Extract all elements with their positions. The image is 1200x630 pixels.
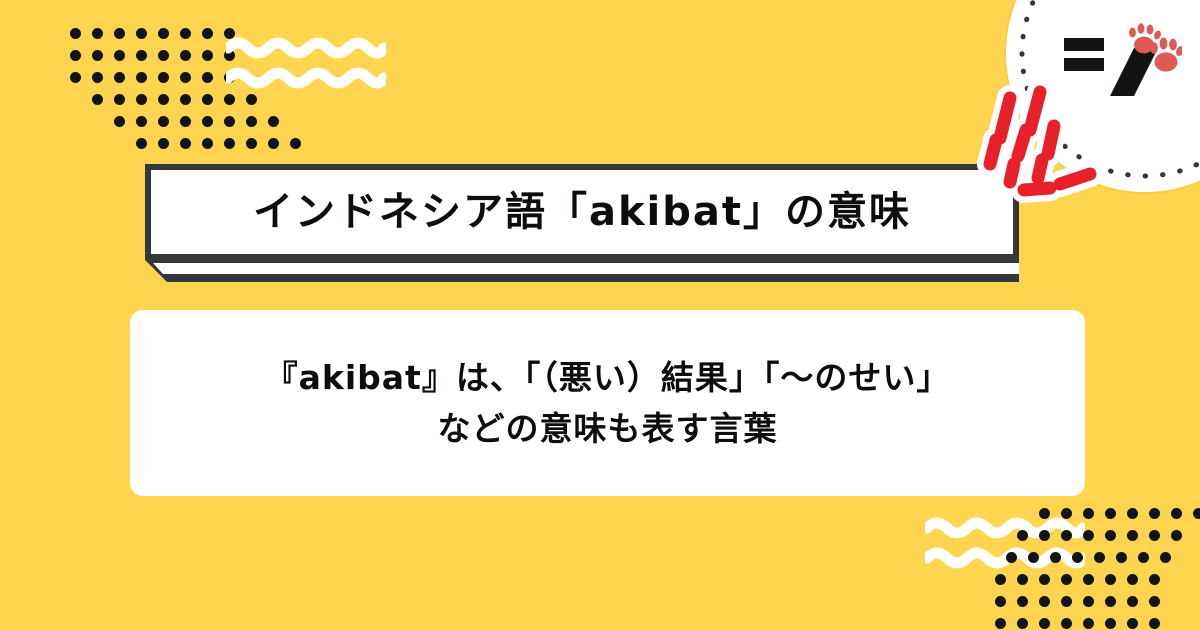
dot — [180, 72, 191, 83]
title-ribbon: インドネシア語「akibat」の意味 — [145, 164, 1030, 282]
dot — [158, 50, 169, 61]
dot — [246, 138, 257, 149]
dot — [224, 116, 235, 127]
dot — [114, 72, 125, 83]
body-card: 『akibat』は、「（悪い）結果」「〜のせい」 などの意味も表す言葉 — [130, 310, 1085, 496]
dot — [114, 28, 125, 39]
dot — [1061, 574, 1072, 585]
dot — [136, 116, 147, 127]
dot — [290, 138, 301, 149]
dot — [1061, 618, 1072, 629]
dot — [1083, 530, 1094, 541]
dot — [1039, 574, 1050, 585]
dot — [246, 116, 257, 127]
dot — [70, 72, 81, 83]
dot — [180, 116, 191, 127]
dot — [92, 50, 103, 61]
dot-row — [92, 94, 312, 116]
dot-row — [136, 138, 312, 160]
dot — [202, 28, 213, 39]
dot-row — [995, 618, 1200, 630]
dot-grid-bottom-right — [995, 508, 1200, 630]
dot — [1127, 530, 1138, 541]
dot — [224, 138, 235, 149]
dot — [1116, 552, 1127, 563]
dot — [70, 28, 81, 39]
dot — [180, 138, 191, 149]
dot — [1061, 596, 1072, 607]
dot — [1061, 508, 1072, 519]
dot — [995, 596, 1006, 607]
dot — [1127, 574, 1138, 585]
dot — [1017, 574, 1028, 585]
dot — [1072, 552, 1083, 563]
dot — [246, 94, 257, 105]
dot-row — [995, 596, 1200, 618]
dot — [1149, 596, 1160, 607]
dot — [180, 50, 191, 61]
dot — [202, 138, 213, 149]
dot — [268, 138, 279, 149]
body-line-1: 『akibat』は、「（悪い）結果」「〜のせい」 — [265, 352, 951, 403]
dot-row — [995, 574, 1200, 596]
dot — [224, 72, 235, 83]
dot — [1105, 574, 1116, 585]
dot — [1193, 508, 1200, 519]
dot — [180, 94, 191, 105]
dot — [158, 138, 169, 149]
dot — [114, 116, 125, 127]
dot — [114, 50, 125, 61]
dot — [1105, 508, 1116, 519]
dot — [1171, 508, 1182, 519]
dot — [1017, 530, 1028, 541]
dot — [1006, 552, 1017, 563]
dot — [136, 50, 147, 61]
dot-row — [114, 116, 312, 138]
dot-row — [1017, 530, 1200, 552]
paw-icon — [1150, 38, 1182, 72]
dot — [224, 50, 235, 61]
dot — [136, 94, 147, 105]
title-box: インドネシア語「akibat」の意味 — [145, 164, 1019, 260]
dot — [1127, 508, 1138, 519]
dot-row — [1039, 508, 1200, 530]
dot — [1149, 574, 1160, 585]
slash-icon — [1110, 48, 1158, 96]
dot-row — [70, 50, 312, 72]
dot — [1160, 552, 1171, 563]
dot — [1061, 530, 1072, 541]
dot — [1149, 618, 1160, 629]
body-line-2: などの意味も表す言葉 — [438, 403, 778, 454]
dot — [1105, 530, 1116, 541]
dot — [995, 618, 1006, 629]
dot — [1127, 596, 1138, 607]
dot — [1017, 596, 1028, 607]
equals-icon — [1064, 38, 1104, 71]
dot — [1149, 508, 1160, 519]
dot — [1028, 552, 1039, 563]
dot — [1149, 530, 1160, 541]
logo-mark — [1062, 20, 1182, 98]
dot — [1039, 596, 1050, 607]
wavy-lines-top-left — [226, 36, 386, 103]
dot — [995, 574, 1006, 585]
dot — [1083, 618, 1094, 629]
dot — [136, 28, 147, 39]
dot — [92, 94, 103, 105]
dot — [202, 72, 213, 83]
dot — [180, 28, 191, 39]
dot-grid-top-left — [70, 28, 312, 160]
dot — [1050, 552, 1061, 563]
dot-row — [1006, 552, 1200, 574]
wavy-lines-bottom-right — [925, 516, 1085, 583]
dot — [1039, 618, 1050, 629]
dot — [224, 94, 235, 105]
dot-row — [70, 72, 312, 94]
dot — [1083, 508, 1094, 519]
dot — [268, 116, 279, 127]
page-title: インドネシア語「akibat」の意味 — [253, 192, 911, 232]
dot — [114, 94, 125, 105]
dot — [1171, 530, 1182, 541]
dot — [158, 116, 169, 127]
dot — [1105, 596, 1116, 607]
slide-canvas: インドネシア語「akibat」の意味 『akibat』は、「（悪い）結果」「〜の… — [0, 0, 1200, 630]
dot — [202, 116, 213, 127]
dot — [1039, 530, 1050, 541]
dot — [1083, 574, 1094, 585]
dot — [202, 94, 213, 105]
dot — [1039, 508, 1050, 519]
dot — [70, 50, 81, 61]
dot — [1127, 618, 1138, 629]
dot — [1094, 552, 1105, 563]
dot — [1105, 618, 1116, 629]
dot — [1017, 618, 1028, 629]
dot — [158, 72, 169, 83]
dot — [1083, 596, 1094, 607]
dot — [224, 28, 235, 39]
dot — [1138, 552, 1149, 563]
dot — [136, 138, 147, 149]
dot — [92, 28, 103, 39]
dot — [158, 94, 169, 105]
dot — [158, 28, 169, 39]
dot — [92, 72, 103, 83]
dot — [136, 72, 147, 83]
dot-row — [70, 28, 312, 50]
dot — [202, 50, 213, 61]
